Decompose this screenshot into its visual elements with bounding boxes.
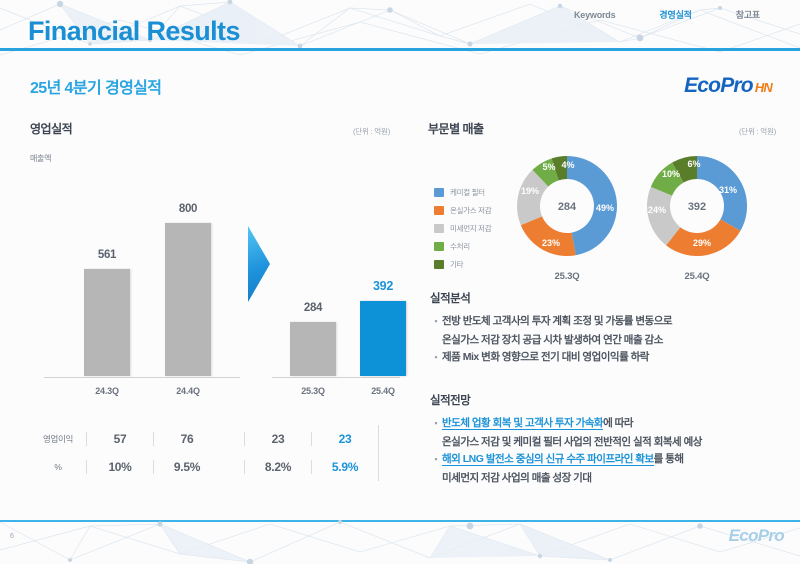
performance-analysis-heading: 실적분석 <box>430 290 790 306</box>
network-pattern-bottom <box>0 520 800 564</box>
segment-revenue-panel: 부문별 매출 (단위 : 억원) 케미컬 필터 온실가스 저감 미세먼지 저감 <box>428 120 778 294</box>
tab-keywords[interactable]: Keywords <box>552 10 637 20</box>
donut1-label-blue: 49% <box>596 203 614 213</box>
table-row-end <box>378 453 380 481</box>
legend-label-ghg-reduction: 온실가스 저감 <box>450 205 491 216</box>
outlook-bullet-1-subtext: 온실가스 저감 및 케미컬 필터 사업의 전반적인 실적 회복세 예상 <box>442 434 790 451</box>
donut2-label-orange: 29% <box>693 238 711 248</box>
header-rule <box>0 48 800 51</box>
results-table: 영업이익 57 76 23 23 % 10% 9.5% 8.2% 5.9% <box>30 425 400 481</box>
donut2-label-blue: 31% <box>719 185 737 195</box>
legend-item-chemical-filter: 케미컬 필터 <box>434 187 491 198</box>
bar-column-24-4q: 800 <box>165 223 211 376</box>
donut1-center-value: 284 <box>558 201 577 213</box>
right-panel-header: 부문별 매출 (단위 : 억원) <box>428 120 776 137</box>
cell-op-25-3q: 23 <box>244 432 311 446</box>
operating-results-heading: 영업실적 <box>30 120 72 137</box>
bullet-square-icon: ▪ <box>430 451 442 468</box>
legend-item-dust-reduction: 미세먼지 저감 <box>434 223 491 234</box>
donut-charts-area: 케미컬 필터 온실가스 저감 미세먼지 저감 수처리 기타 <box>428 149 778 294</box>
logo-eco-text: Eco <box>684 74 720 97</box>
outlook-bullet-2-emphasis: 해외 LNG 발전소 중심의 신규 수주 파이프라인 확보 <box>442 453 654 466</box>
legend-label-other: 기타 <box>450 259 463 270</box>
outlook-bullet-1-rest: 에 따라 <box>603 417 633 429</box>
bullet-square-icon: ▪ <box>430 415 442 432</box>
trend-arrow-icon <box>248 226 270 302</box>
donut1-label-lgreen: 5% <box>542 162 555 172</box>
row-label-percent: % <box>30 462 86 472</box>
bar-value-24-4q: 800 <box>155 203 221 215</box>
legend-swatch-orange <box>434 206 444 215</box>
tab-reference[interactable]: 참고표 <box>714 8 782 21</box>
bar-column-25-3q: 284 <box>290 322 336 376</box>
footer-ecopro-logo: EcoPro <box>729 526 784 546</box>
segment-legend: 케미컬 필터 온실가스 저감 미세먼지 저감 수처리 기타 <box>434 187 491 277</box>
donut2-label-dgreen: 6% <box>687 159 700 169</box>
analysis-bullet-2: ▪ 제품 Mix 변화 영향으로 전기 대비 영업이익률 하락 <box>430 349 790 366</box>
bar-label-25-3q: 25.3Q <box>280 386 346 396</box>
bar-25-4q <box>360 301 406 376</box>
nav-tabs: Keywords 경영실적 참고표 <box>552 8 782 21</box>
bar-label-24-3q: 24.3Q <box>74 386 140 396</box>
bar-column-25-4q: 392 <box>360 301 406 376</box>
cell-pct-24-4q: 9.5% <box>153 460 220 474</box>
logo-pro-text: Pro <box>720 74 753 97</box>
analysis-bullet-1-subtext: 온실가스 저감 장치 공급 시차 발생하여 연간 매출 감소 <box>442 332 790 349</box>
page-number: 6 <box>10 533 14 540</box>
page-title: Financial Results <box>28 18 240 45</box>
ecopro-hn-logo: EcoProHN <box>684 74 772 98</box>
donut-caption-25-3q: 25.3Q <box>510 271 624 282</box>
outlook-bullet-2: ▪ 해외 LNG 발전소 중심의 신규 수주 파이프라인 확보를 통해 <box>430 451 790 468</box>
bar-value-25-4q: 392 <box>350 279 416 293</box>
operating-results-panel: 영업실적 (단위 : 억원) 매출액 561 24.3Q 800 24.4Q 2… <box>30 120 415 398</box>
donut-chart-25-3q: 49% 23% 19% 5% 4% 284 <box>510 149 624 263</box>
outlook-block: 실적전망 ▪ 반도체 업황 회복 및 고객사 투자 가속화에 따라 온실가스 저… <box>430 392 790 487</box>
donut-chart-25-4q: 31% 29% 24% 10% 6% 392 <box>640 149 754 263</box>
donut2-center-value: 392 <box>688 201 706 213</box>
donut2-label-lgreen: 10% <box>662 169 680 179</box>
cell-op-24-3q: 57 <box>86 432 153 446</box>
right-unit-label: (단위 : 억원) <box>739 126 776 137</box>
analysis-bullet-1: ▪ 전방 반도체 고객사의 투자 계획 조정 및 가동률 변동으로 <box>430 313 790 330</box>
axis-line-right <box>272 377 400 378</box>
bar-25-3q <box>290 322 336 376</box>
bullet-square-icon: ▪ <box>430 313 442 330</box>
axis-line-left <box>44 377 240 378</box>
cell-op-24-4q: 76 <box>153 432 220 446</box>
bar-value-25-3q: 284 <box>280 302 346 314</box>
legend-label-dust-reduction: 미세먼지 저감 <box>450 223 491 234</box>
revenue-axis-label: 매출액 <box>30 153 415 164</box>
bar-value-24-3q: 561 <box>74 249 140 261</box>
outlook-bullet-1: ▪ 반도체 업황 회복 및 고객사 투자 가속화에 따라 <box>430 415 790 432</box>
revenue-bar-chart: 561 24.3Q 800 24.4Q 284 25.3Q 392 25.4Q <box>30 168 400 398</box>
outlook-bullet-2-text: 해외 LNG 발전소 중심의 신규 수주 파이프라인 확보를 통해 <box>442 451 684 468</box>
donut1-label-dgreen: 4% <box>561 160 574 170</box>
bar-24-4q <box>165 223 211 376</box>
tab-management-results[interactable]: 경영실적 <box>637 8 713 21</box>
donut1-label-gray: 19% <box>521 186 539 196</box>
legend-swatch-blue <box>434 188 444 197</box>
cell-pct-25-4q: 5.9% <box>311 460 378 474</box>
analysis-bullet-2-text: 제품 Mix 변화 영향으로 전기 대비 영업이익률 하락 <box>442 349 649 366</box>
table-row: 영업이익 57 76 23 23 <box>30 425 400 453</box>
left-panel-header: 영업실적 (단위 : 억원) <box>30 120 390 137</box>
bar-column-24-3q: 561 <box>84 269 130 376</box>
legend-item-ghg-reduction: 온실가스 저감 <box>434 205 491 216</box>
table-row: % 10% 9.5% 8.2% 5.9% <box>30 453 400 481</box>
analysis-bullet-1-text: 전방 반도체 고객사의 투자 계획 조정 및 가동률 변동으로 <box>442 313 672 330</box>
outlook-bullet-1-text: 반도체 업황 회복 및 고객사 투자 가속화에 따라 <box>442 415 633 432</box>
legend-label-chemical-filter: 케미컬 필터 <box>450 187 485 198</box>
legend-item-water-treatment: 수처리 <box>434 241 491 252</box>
outlook-bullet-2-rest: 를 통해 <box>654 453 684 465</box>
donut-caption-25-4q: 25.4Q <box>640 271 754 282</box>
slide-subtitle: 25년 4분기 경영실적 <box>30 74 161 98</box>
bar-24-3q <box>84 269 130 376</box>
cell-pct-25-3q: 8.2% <box>244 460 311 474</box>
performance-analysis-block: 실적분석 ▪ 전방 반도체 고객사의 투자 계획 조정 및 가동률 변동으로 온… <box>430 290 790 368</box>
legend-swatch-green-light <box>434 242 444 251</box>
row-label-operating-profit: 영업이익 <box>30 433 86 445</box>
outlook-heading: 실적전망 <box>430 392 790 408</box>
left-unit-label: (단위 : 억원) <box>353 126 390 137</box>
donut1-label-orange: 23% <box>542 238 560 248</box>
bullet-square-icon: ▪ <box>430 349 442 366</box>
cell-op-25-4q: 23 <box>311 432 378 446</box>
bar-label-25-4q: 25.4Q <box>350 386 416 396</box>
bar-label-24-4q: 24.4Q <box>155 386 221 396</box>
outlook-bullet-2-subtext: 미세먼지 저감 사업의 매출 성장 기대 <box>442 470 790 487</box>
legend-swatch-gray <box>434 224 444 233</box>
slide: Financial Results Keywords 경영실적 참고표 25년 … <box>0 0 800 564</box>
legend-swatch-green-dark <box>434 260 444 269</box>
legend-label-water-treatment: 수처리 <box>450 241 470 252</box>
cell-pct-24-3q: 10% <box>86 460 153 474</box>
table-row-end <box>378 425 380 453</box>
logo-hn-text: HN <box>755 80 772 95</box>
legend-item-other: 기타 <box>434 259 491 270</box>
footer-rule <box>0 520 800 522</box>
segment-revenue-heading: 부문별 매출 <box>428 120 484 137</box>
donut2-label-gray: 24% <box>648 205 666 215</box>
outlook-bullet-1-emphasis: 반도체 업황 회복 및 고객사 투자 가속화 <box>442 417 603 430</box>
